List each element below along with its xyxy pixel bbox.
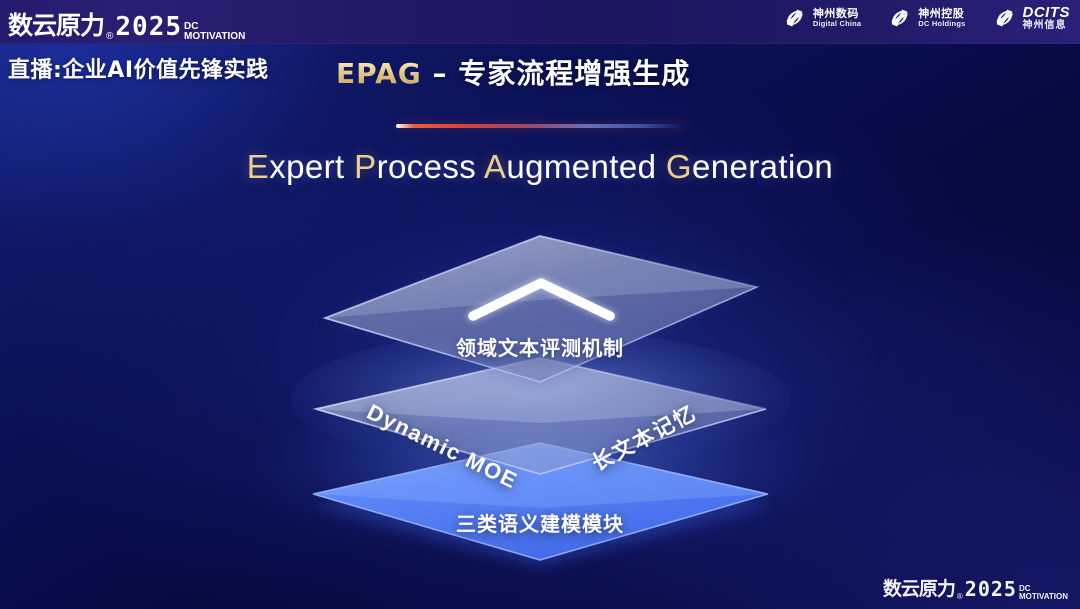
title-acronym: EPAG <box>336 57 422 90</box>
spiral-swirl-icon <box>887 5 913 31</box>
event-logo-cn: 数云原力 <box>8 6 104 42</box>
subtitle-cap-g: G <box>666 148 692 185</box>
event-logo-motivation: MOTIVATION <box>184 32 245 42</box>
title-chinese: 专家流程增强生成 <box>458 57 690 90</box>
partner-name-en: 神州信息 <box>1023 21 1071 32</box>
partner-logo-group: 神州数码 Digital China 神州控股 DC Holdings <box>782 5 1070 31</box>
top-plate <box>325 236 757 382</box>
partner-name-cn: DCITS <box>1023 5 1071 21</box>
live-broadcast-tag: 直播:企业AI价值先锋实践 <box>8 52 269 84</box>
layer-label-top: 领域文本评测机制 <box>0 332 1080 361</box>
watermark-logo-year: 2025 <box>965 577 1017 601</box>
partner-logo-digital-china: 神州数码 Digital China <box>782 5 861 31</box>
spiral-swirl-icon <box>992 5 1018 31</box>
spiral-swirl-icon <box>782 5 808 31</box>
subtitle-expansion: Expert Process Augmented Generation <box>0 148 1080 186</box>
subtitle-cap-e: E <box>247 148 269 185</box>
subtitle-rest-eneration: eneration <box>692 148 833 185</box>
diagram-layer-bottom <box>313 443 770 568</box>
page-title: EPAG – 专家流程增强生成 <box>336 52 690 92</box>
bottom-plate <box>313 443 768 560</box>
subtitle-rest-ugmented: ugmented <box>506 148 666 185</box>
title-dash: – <box>422 57 459 90</box>
layer-label-bottom: 三类语义建模模块 <box>0 508 1080 537</box>
event-logo-year: 2025 <box>115 12 182 42</box>
event-logo: 数云原力 ® 2025 DC MOTIVATION <box>8 6 245 42</box>
bottom-layer-glow <box>240 375 840 565</box>
partner-name-en: DC Holdings <box>918 20 965 28</box>
partner-text: 神州数码 Digital China <box>813 8 861 27</box>
watermark-registered-mark: ® <box>957 592 963 601</box>
partner-text: 神州控股 DC Holdings <box>918 8 965 27</box>
event-logo-dc-block: DC MOTIVATION <box>184 22 245 42</box>
diagram-layer-top <box>325 235 760 385</box>
subtitle-rest-xpert: xpert <box>269 148 354 185</box>
gradient-divider <box>396 124 686 128</box>
registered-mark: ® <box>106 31 113 42</box>
middle-plate <box>316 358 766 474</box>
diagram-layer-middle <box>316 358 766 474</box>
event-logo-watermark: 数云原力 ® 2025 DC MOTIVATION <box>883 574 1068 601</box>
partner-text: DCITS 神州信息 <box>1023 5 1071 31</box>
chevron-up-icon <box>473 283 610 316</box>
layer-label-long-text-memory: 长文本记忆 <box>586 397 702 477</box>
layer-label-dynamic-moe: Dynamic MOE <box>363 399 522 494</box>
watermark-logo-cn: 数云原力 <box>883 574 955 601</box>
subtitle-cap-p: P <box>354 148 376 185</box>
partner-logo-dcits: DCITS 神州信息 <box>992 5 1071 31</box>
middle-layer-glow <box>290 330 790 470</box>
partner-logo-dc-holdings: 神州控股 DC Holdings <box>887 5 965 31</box>
subtitle-cap-a: A <box>484 148 506 185</box>
watermark-logo-motivation: MOTIVATION <box>1019 593 1068 601</box>
presentation-slide: 数云原力 ® 2025 DC MOTIVATION 神州数码 Digital C… <box>0 0 1080 609</box>
subtitle-rest-rocess: rocess <box>377 148 484 185</box>
top-header-bar: 数云原力 ® 2025 DC MOTIVATION 神州数码 Digital C… <box>0 0 1080 44</box>
watermark-dc-block: DC MOTIVATION <box>1019 585 1068 601</box>
partner-name-en: Digital China <box>813 20 861 28</box>
